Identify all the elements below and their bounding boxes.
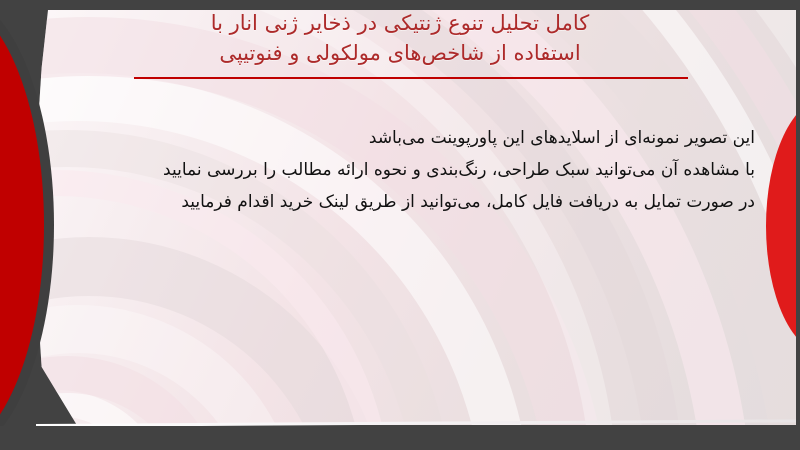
frame-edge-right — [796, 0, 800, 450]
body-line-3: در صورت تمایل به دریافت فایل کامل، می‌تو… — [65, 186, 755, 218]
slide-title: کامل تحلیل تنوع ژنتیکی در ذخایر ژنی انار… — [100, 8, 700, 68]
frame-edge-bottom — [0, 426, 800, 450]
slide-body-text: این تصویر نمونه‌ای از اسلایدهای این پاور… — [65, 122, 755, 218]
slide-title-line-1: کامل تحلیل تنوع ژنتیکی در ذخایر ژنی انار… — [100, 8, 700, 38]
title-underline — [134, 77, 688, 79]
presentation-slide: کامل تحلیل تنوع ژنتیکی در ذخایر ژنی انار… — [0, 0, 800, 450]
body-line-1: این تصویر نمونه‌ای از اسلایدهای این پاور… — [65, 122, 755, 154]
body-line-2: با مشاهده آن می‌توانید سبک طراحی، رنگ‌بن… — [65, 154, 755, 186]
slide-title-line-2: استفاده از شاخص‌های مولکولی و فنوتیپی — [100, 38, 700, 68]
